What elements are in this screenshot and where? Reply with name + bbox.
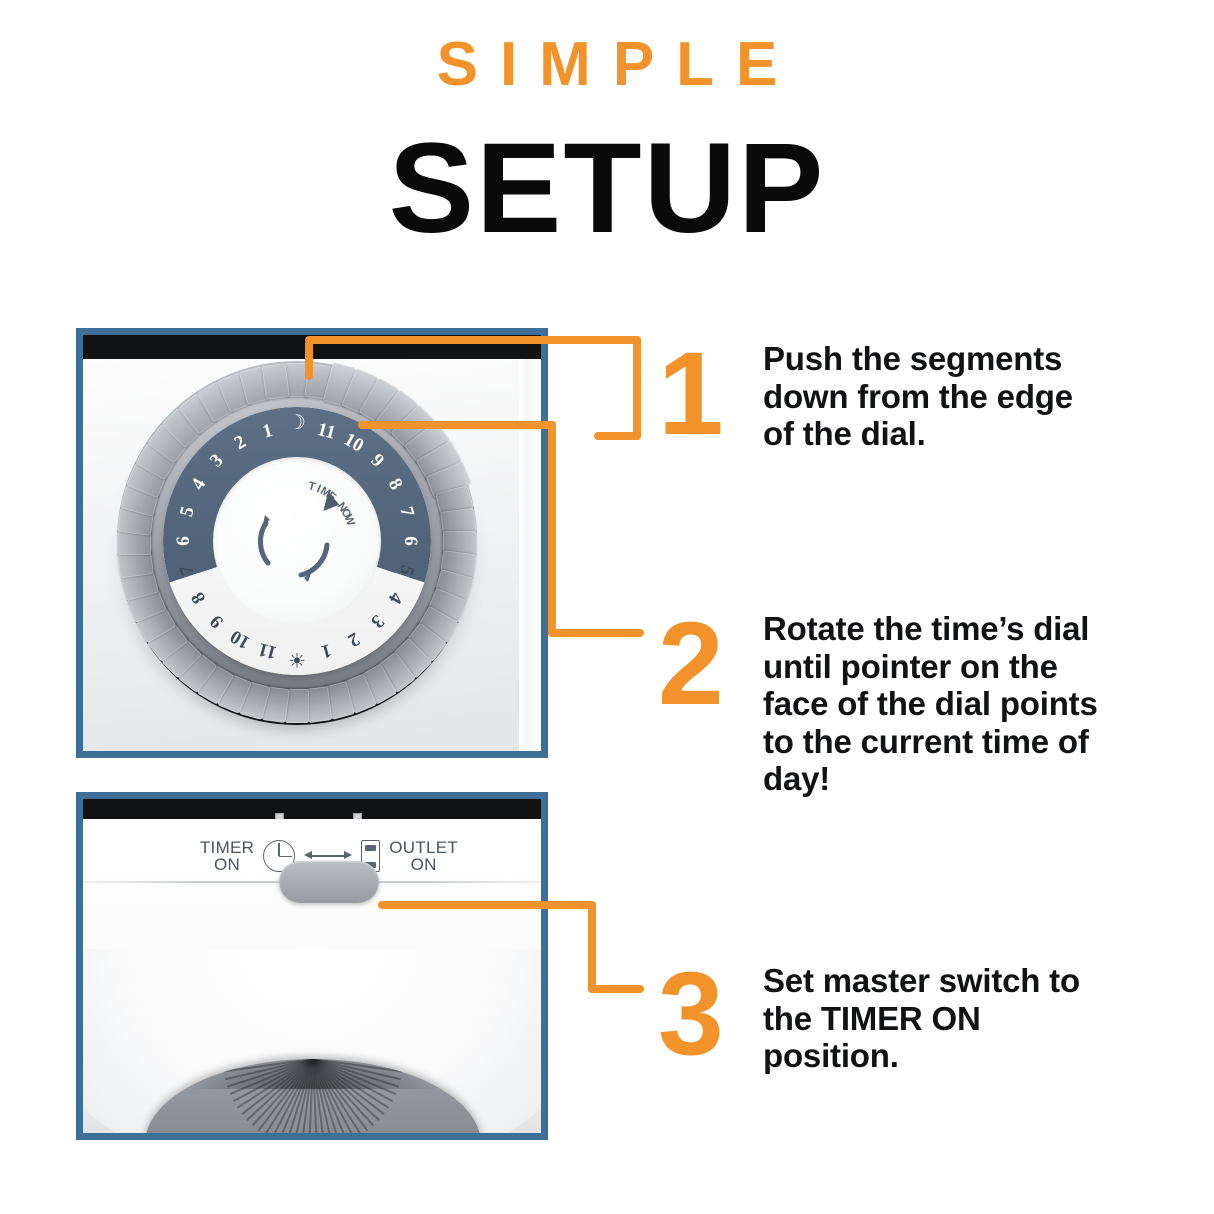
step-3-text: Set master switch to the TIMER ON positi… [763, 962, 1113, 1075]
outlet-label-line1: OUTLET [389, 839, 458, 856]
timer-dial-photo-inner: 11109876123456111098123475 ☽ ☀ TIME NOW [83, 335, 541, 751]
device-right-edge [519, 359, 541, 751]
step-2-text: Rotate the time’s dial until pointer on … [763, 610, 1103, 798]
connector-2-tail [548, 629, 644, 637]
master-switch-knob[interactable] [279, 861, 379, 903]
timer-label-line1: TIMER [200, 839, 254, 856]
connector-3-horizontal [378, 901, 596, 909]
connector-2-horizontal [358, 421, 556, 429]
arrow-head-right [344, 851, 352, 859]
step-1-number: 1 [658, 335, 724, 453]
connector-1-stub [305, 340, 313, 380]
step-2-number: 2 [658, 605, 724, 723]
dial-face: 11109876123456111098123475 ☽ ☀ TIME NOW [163, 407, 431, 675]
connector-3-vertical [588, 901, 596, 993]
outlet-slot-top [365, 845, 376, 851]
page-title: SETUP [0, 125, 1214, 253]
timer-on-label: TIMER ON [200, 839, 254, 874]
step-3-number: 3 [658, 955, 724, 1073]
master-switch-photo: TIMER ON OUTLET ON [76, 792, 548, 1140]
connector-1-vertical [633, 336, 641, 440]
step-1-text: Push the segments down from the edge of … [763, 340, 1093, 453]
eyebrow-heading: SIMPLE [0, 34, 1214, 96]
bottom-dial-shadow [185, 1059, 441, 1089]
outlet-on-label: OUTLET ON [389, 839, 458, 874]
connector-1-tail [594, 432, 641, 440]
device-top-strip-2 [83, 799, 541, 821]
master-switch-photo-inner: TIMER ON OUTLET ON [83, 799, 541, 1133]
timer-dial-photo: 11109876123456111098123475 ☽ ☀ TIME NOW [76, 328, 548, 758]
infographic-root: SIMPLE SETUP 11109876123456111098123475 … [0, 0, 1214, 1214]
connector-3-tail [588, 985, 644, 993]
bottom-dial-rim: 2 1 ☽ 11 10 [145, 1059, 481, 1133]
rotary-dial[interactable]: 11109876123456111098123475 ☽ ☀ TIME NOW [111, 357, 483, 729]
timer-label-line2: ON [200, 856, 254, 873]
connector-1-horizontal [305, 336, 641, 344]
arrow-bar [311, 855, 345, 857]
connector-2-vertical [548, 421, 556, 637]
outlet-label-line2: ON [389, 856, 458, 873]
